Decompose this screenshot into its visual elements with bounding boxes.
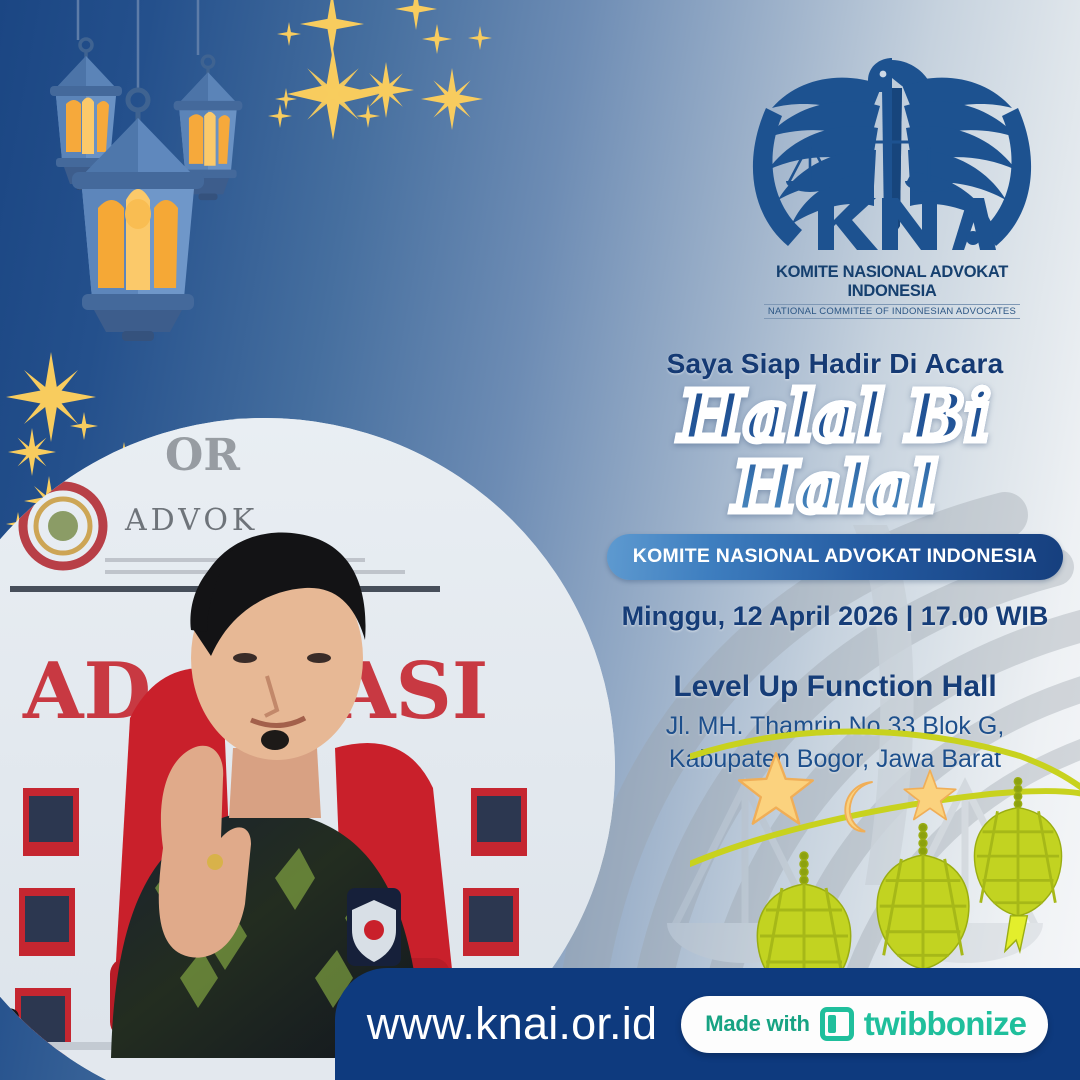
organization-badge: KOMITE NASIONAL ADVOKAT INDONESIA: [607, 534, 1063, 580]
star-spark-top-k: [356, 104, 380, 128]
lantern-small-left-icon: [42, 36, 130, 196]
knai-eagle-icon: [742, 30, 1042, 260]
knai-logo-line2: NATIONAL COMMITEE OF INDONESIAN ADVOCATE…: [764, 304, 1020, 319]
star-burst-top-e: [287, 48, 379, 140]
svg-text:OR: OR: [165, 430, 240, 481]
twibbonize-made-with-label: Made with: [705, 1011, 810, 1037]
star-spark-top-i: [468, 26, 492, 50]
star-ornament-small: [902, 768, 958, 824]
lantern-large-icon: [58, 86, 218, 341]
crescent-moon-icon: [828, 772, 890, 834]
kicker-text: Saya Siap Hadir Di Acara: [600, 348, 1070, 380]
lantern-cords: [0, 0, 300, 200]
venue-name: Level Up Function Hall: [600, 670, 1070, 704]
poster-canvas: KOMITE NASIONAL ADVOKAT INDONESIA NATION…: [0, 0, 1080, 1080]
twibbonize-mark-icon: [820, 1007, 854, 1041]
svg-text:ADVOK: ADVOK: [124, 503, 258, 538]
event-details: Saya Siap Hadir Di Acara Halal Bi Halal …: [600, 348, 1070, 776]
star-spark-right-a: [275, 88, 297, 110]
star-spark-top-j: [268, 104, 292, 128]
page-title: Halal Bi Halal: [600, 382, 1070, 525]
lantern-small-right-icon: [166, 52, 250, 207]
knai-logo-line1: KOMITE NASIONAL ADVOKAT INDONESIA: [742, 263, 1042, 301]
event-datetime: Minggu, 12 April 2026 | 17.00 WIB: [600, 601, 1070, 632]
star-spark-top-d: [422, 24, 452, 54]
venue-address-line1: Jl. MH. Thamrin No.33 Blok G,: [600, 710, 1070, 743]
star-burst-top-b: [395, 0, 437, 30]
ketupat-right: [962, 772, 1074, 957]
knai-logo: KOMITE NASIONAL ADVOKAT INDONESIA NATION…: [742, 30, 1042, 305]
twibbonize-badge[interactable]: Made with twibbonize: [681, 996, 1048, 1053]
website-url[interactable]: www.knai.or.id: [367, 998, 657, 1050]
twibbonize-brand-label: twibbonize: [864, 1005, 1026, 1043]
venue-address-line2: Kabupaten Bogor, Jawa Barat: [600, 743, 1070, 776]
footer-banner: www.knai.or.id Made with twibbonize: [335, 968, 1080, 1080]
star-burst-top-f: [421, 68, 483, 130]
star-spark-top-h: [277, 22, 301, 46]
star-burst-top-a: [300, 0, 364, 56]
star-burst-top-c: [358, 62, 414, 118]
